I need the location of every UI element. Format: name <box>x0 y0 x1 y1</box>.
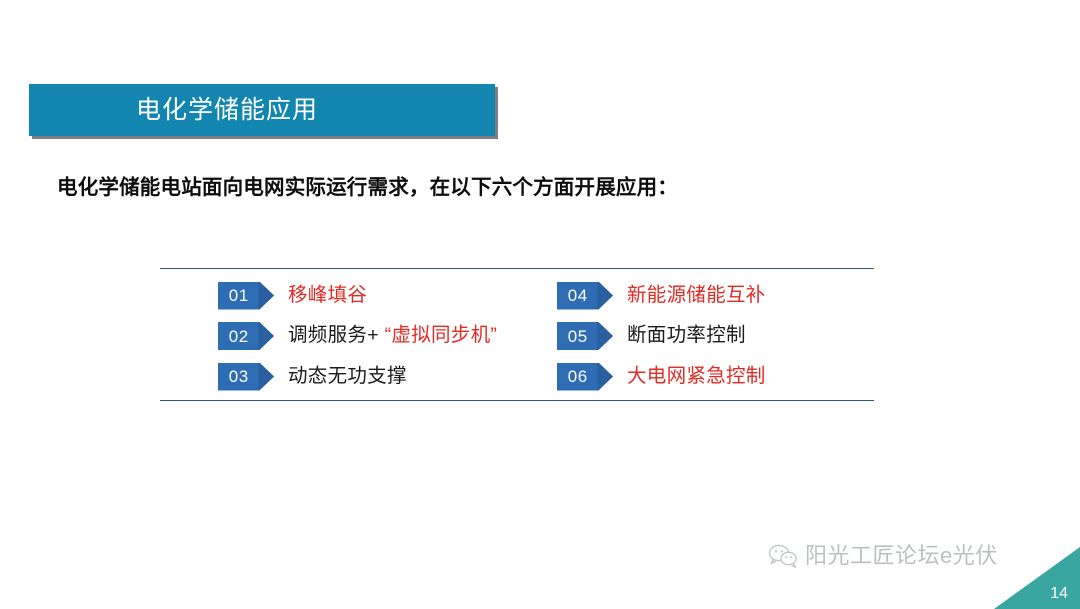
badge-number: 05 <box>557 322 598 350</box>
wechat-icon <box>768 543 798 569</box>
badge-number: 04 <box>557 282 598 310</box>
list-item: 04 新能源储能互补 <box>557 280 874 312</box>
watermark: 阳光工匠论坛e光伏 <box>768 543 998 569</box>
item-label: 断面功率控制 <box>627 326 746 346</box>
list-item: 06 大电网紧急控制 <box>557 361 874 393</box>
badge-number: 02 <box>218 322 259 350</box>
application-list-panel: 01 移峰填谷 02 调频服务+ “虚拟同步机” <box>160 268 874 401</box>
slide-title-banner: 电化学储能应用 <box>29 84 495 136</box>
page-number: 14 <box>1050 586 1068 602</box>
item-number-badge: 03 <box>218 363 274 391</box>
list-item: 03 动态无功支撑 <box>218 361 535 393</box>
badge-arrow-tip <box>258 363 274 391</box>
item-number-badge: 06 <box>557 363 613 391</box>
item-number-badge: 05 <box>557 322 613 350</box>
slide-canvas: 电化学储能应用 电化学储能电站面向电网实际运行需求，在以下六个方面开展应用： 0… <box>0 0 1080 609</box>
badge-arrow-tip <box>597 363 613 391</box>
item-label: 大电网紧急控制 <box>627 367 766 387</box>
list-item: 01 移峰填谷 <box>218 280 535 312</box>
badge-number: 01 <box>218 282 259 310</box>
item-label: 新能源储能互补 <box>627 286 766 306</box>
item-label: 动态无功支撑 <box>288 367 407 387</box>
watermark-text: 阳光工匠论坛e光伏 <box>805 545 998 567</box>
item-label: 调频服务+ “虚拟同步机” <box>288 326 497 346</box>
item-number-badge: 04 <box>557 282 613 310</box>
list-column-left: 01 移峰填谷 02 调频服务+ “虚拟同步机” <box>160 268 535 401</box>
slide-lead-paragraph: 电化学储能电站面向电网实际运行需求，在以下六个方面开展应用： <box>57 170 678 200</box>
badge-number: 06 <box>557 363 598 391</box>
badge-arrow-tip <box>597 322 613 350</box>
badge-number: 03 <box>218 363 259 391</box>
badge-arrow-tip <box>597 282 613 310</box>
item-label-accent: “虚拟同步机” <box>385 324 498 346</box>
badge-arrow-tip <box>258 282 274 310</box>
list-column-right: 04 新能源储能互补 05 断面功率控制 0 <box>535 268 874 401</box>
item-number-badge: 01 <box>218 282 274 310</box>
list-item: 05 断面功率控制 <box>557 320 874 352</box>
list-columns: 01 移峰填谷 02 调频服务+ “虚拟同步机” <box>160 268 874 401</box>
list-item: 02 调频服务+ “虚拟同步机” <box>218 320 535 352</box>
item-number-badge: 02 <box>218 322 274 350</box>
item-label-plain: 调频服务+ <box>288 324 385 346</box>
item-label: 移峰填谷 <box>288 286 367 306</box>
badge-arrow-tip <box>258 322 274 350</box>
slide-title-text: 电化学储能应用 <box>96 98 428 123</box>
